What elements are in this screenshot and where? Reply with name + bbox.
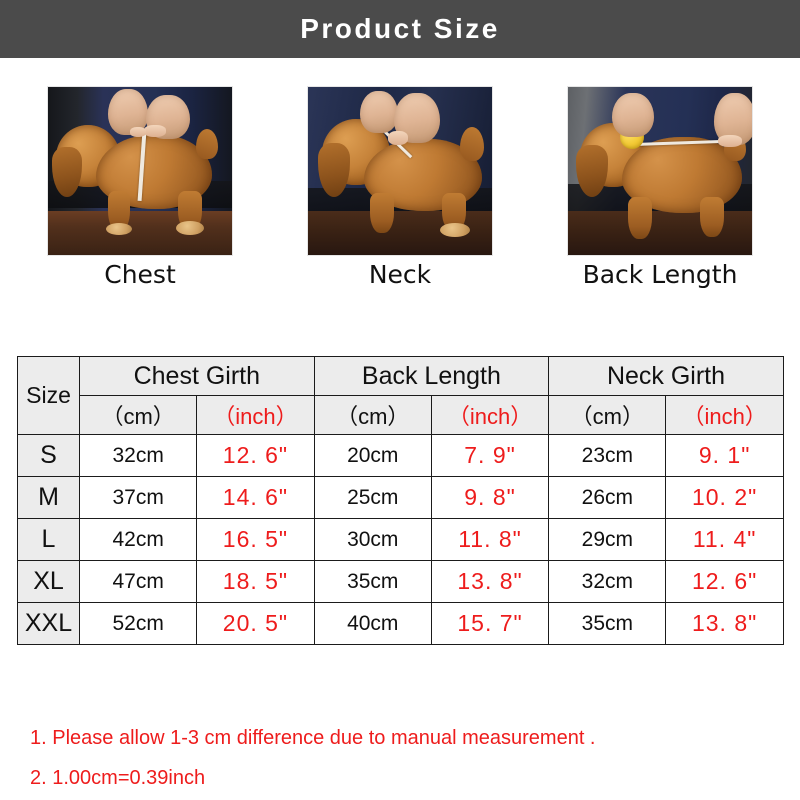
header-back-inch: （inch） — [431, 396, 548, 435]
finger — [130, 127, 146, 137]
cell-neck-inch: 11. 4" — [666, 519, 783, 561]
left-hand — [360, 91, 398, 133]
chest-photo-scene — [48, 87, 232, 255]
cell-back-inch: 7. 9" — [431, 435, 548, 477]
cell-back-inch: 15. 7" — [431, 603, 548, 645]
table-surface — [48, 211, 232, 255]
measurement-photo-strip — [47, 86, 753, 256]
dog-paw — [440, 223, 470, 237]
caption-back-length: Back Length — [567, 258, 753, 294]
dog-front-leg — [628, 197, 652, 239]
photo-captions: Chest Neck Back Length — [47, 258, 753, 294]
cell-back-cm: 40cm — [314, 603, 431, 645]
row-size-label: S — [18, 435, 80, 477]
cell-chest-inch: 14. 6" — [197, 477, 314, 519]
measurement-notes: 1. Please allow 1-3 cm difference due to… — [30, 718, 770, 798]
cell-neck-inch: 9. 1" — [666, 435, 783, 477]
dog-tail — [196, 129, 218, 159]
neck-measurement-photo — [307, 86, 493, 256]
dog-paw — [176, 221, 204, 235]
finger — [144, 125, 166, 137]
back-length-photo-scene — [568, 87, 752, 255]
left-hand — [612, 93, 654, 137]
table-surface — [568, 211, 752, 255]
cell-chest-inch: 16. 5" — [197, 519, 314, 561]
header-chest-cm: （cm） — [80, 396, 197, 435]
product-size-banner: Product Size — [0, 0, 800, 58]
size-chart-container: Size Chest Girth Back Length Neck Girth … — [17, 356, 783, 645]
table-row: XXL 52cm 20. 5" 40cm 15. 7" 35cm 13. 8" — [18, 603, 784, 645]
cell-neck-inch: 10. 2" — [666, 477, 783, 519]
size-chart-table: Size Chest Girth Back Length Neck Girth … — [17, 356, 784, 645]
table-header-group-row: Size Chest Girth Back Length Neck Girth — [18, 357, 784, 396]
cell-chest-cm: 32cm — [80, 435, 197, 477]
finger — [388, 131, 408, 145]
cell-back-inch: 9. 8" — [431, 477, 548, 519]
header-neck-cm: （cm） — [549, 396, 666, 435]
cell-chest-cm: 52cm — [80, 603, 197, 645]
cell-chest-cm: 42cm — [80, 519, 197, 561]
header-back-cm: （cm） — [314, 396, 431, 435]
cell-neck-cm: 32cm — [549, 561, 666, 603]
header-chest-inch: （inch） — [197, 396, 314, 435]
row-size-label: XXL — [18, 603, 80, 645]
dog-front-leg — [370, 193, 394, 233]
back-length-measurement-photo — [567, 86, 753, 256]
cell-chest-inch: 20. 5" — [197, 603, 314, 645]
cell-back-cm: 30cm — [314, 519, 431, 561]
cell-neck-cm: 26cm — [549, 477, 666, 519]
cell-back-inch: 13. 8" — [431, 561, 548, 603]
row-size-label: M — [18, 477, 80, 519]
header-neck-inch: （inch） — [666, 396, 783, 435]
cell-neck-inch: 12. 6" — [666, 561, 783, 603]
table-row: M 37cm 14. 6" 25cm 9. 8" 26cm 10. 2" — [18, 477, 784, 519]
cell-chest-cm: 47cm — [80, 561, 197, 603]
cell-back-cm: 20cm — [314, 435, 431, 477]
cell-back-cm: 35cm — [314, 561, 431, 603]
table-row: XL 47cm 18. 5" 35cm 13. 8" 32cm 12. 6" — [18, 561, 784, 603]
cell-neck-inch: 13. 8" — [666, 603, 783, 645]
table-row: S 32cm 12. 6" 20cm 7. 9" 23cm 9. 1" — [18, 435, 784, 477]
row-size-label: L — [18, 519, 80, 561]
note-cm-to-inch: 2. 1.00cm=0.39inch — [30, 758, 770, 798]
cell-neck-cm: 23cm — [549, 435, 666, 477]
dog-tail — [460, 127, 484, 161]
finger — [718, 135, 742, 147]
caption-neck: Neck — [307, 258, 493, 294]
header-back-length: Back Length — [314, 357, 549, 396]
dog-paw — [106, 223, 132, 235]
header-size: Size — [18, 357, 80, 435]
cell-back-inch: 11. 8" — [431, 519, 548, 561]
table-row: L 42cm 16. 5" 30cm 11. 8" 29cm 11. 4" — [18, 519, 784, 561]
cell-chest-inch: 12. 6" — [197, 435, 314, 477]
cell-chest-cm: 37cm — [80, 477, 197, 519]
chest-measurement-photo — [47, 86, 233, 256]
note-manual-measurement: 1. Please allow 1-3 cm difference due to… — [30, 718, 770, 758]
header-chest-girth: Chest Girth — [80, 357, 315, 396]
caption-chest: Chest — [47, 258, 233, 294]
cell-neck-cm: 35cm — [549, 603, 666, 645]
dog-back-leg — [700, 197, 724, 237]
cell-back-cm: 25cm — [314, 477, 431, 519]
cell-neck-cm: 29cm — [549, 519, 666, 561]
header-neck-girth: Neck Girth — [549, 357, 784, 396]
neck-photo-scene — [308, 87, 492, 255]
table-header-unit-row: （cm） （inch） （cm） （inch） （cm） （inch） — [18, 396, 784, 435]
page-title: Product Size — [300, 13, 500, 45]
row-size-label: XL — [18, 561, 80, 603]
cell-chest-inch: 18. 5" — [197, 561, 314, 603]
